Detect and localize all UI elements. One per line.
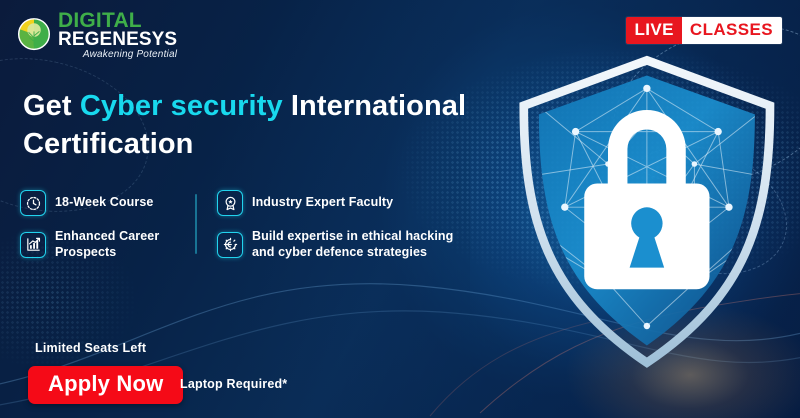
feature-label: Industry Expert Faculty	[252, 195, 393, 211]
feature-list: 18-Week Course Enhanced Career Prospects	[20, 190, 480, 260]
logo-digital-text: DIGITAL	[58, 10, 177, 31]
award-medal-icon	[217, 190, 243, 216]
clock-icon	[20, 190, 46, 216]
laptop-required-note: Laptop Required*	[180, 377, 287, 391]
bar-chart-growth-icon	[20, 232, 46, 258]
feature-label: 18-Week Course	[55, 195, 153, 211]
feature-item-18-week-course: 18-Week Course	[20, 190, 195, 216]
page-title: Get Cyber security International Certifi…	[23, 88, 493, 163]
feature-label: Enhanced Career Prospects	[55, 229, 195, 260]
feature-column-right: Industry Expert Faculty Build expertise …	[197, 190, 462, 260]
live-classes-badge: LIVE CLASSES	[626, 17, 782, 44]
feature-label: Build expertise in ethical hacking and c…	[252, 229, 462, 260]
live-label: LIVE	[626, 17, 682, 44]
feature-item-ethical-hacking: Build expertise in ethical hacking and c…	[217, 229, 462, 260]
security-shield-icon	[472, 48, 800, 388]
feature-column-left: 18-Week Course Enhanced Career Prospects	[20, 190, 195, 260]
limited-seats-label: Limited Seats Left	[35, 341, 146, 355]
cybersecurity-promo-banner: DIGITAL REGENESYS Awakening Potential LI…	[0, 0, 800, 418]
logo-regenesys-text: REGENESYS	[58, 30, 177, 49]
feature-item-expert-faculty: Industry Expert Faculty	[217, 190, 462, 216]
headline-highlight: Cyber security	[80, 90, 283, 122]
feature-item-career-prospects: Enhanced Career Prospects	[20, 229, 195, 260]
classes-label: CLASSES	[682, 17, 782, 44]
brand-logo[interactable]: DIGITAL REGENESYS Awakening Potential	[16, 9, 177, 60]
gear-icon	[217, 232, 243, 258]
feature-divider	[195, 194, 197, 254]
headline-part1: Get	[23, 90, 80, 122]
apply-now-button[interactable]: Apply Now	[28, 366, 183, 404]
logo-tagline: Awakening Potential	[58, 50, 177, 60]
regenesys-tree-emblem-icon	[16, 16, 52, 54]
